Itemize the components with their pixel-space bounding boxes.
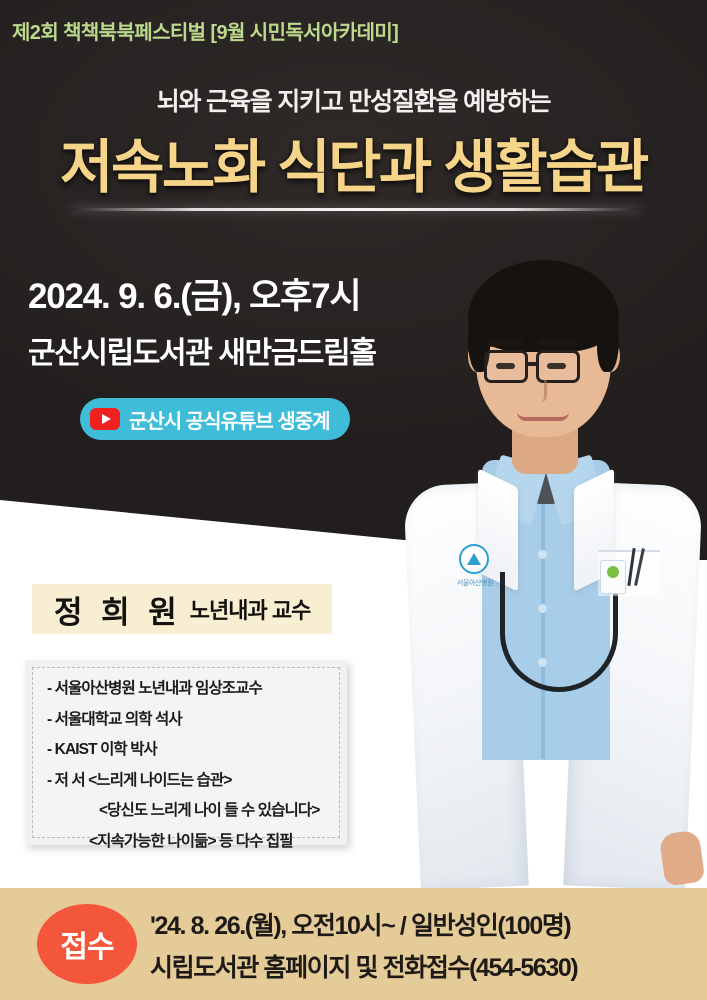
youtube-live-badge[interactable]: 군산시 공식유튜브 생중계	[80, 398, 350, 440]
id-badge-photo	[607, 566, 619, 578]
credential-item: - 저 서 <느리게 나이드는 습관>	[47, 773, 335, 789]
mouth	[517, 412, 569, 421]
registration-band: 접수 '24. 8. 26.(월), 오전10시~ / 일반성인(100명) 시…	[0, 888, 707, 1000]
credential-item: - 서울대학교 의학 석사	[47, 712, 335, 728]
event-venue-text: 군산시립도서관 새만금드림홀	[28, 328, 376, 372]
poster-subtitle: 뇌와 근육을 지키고 만성질환을 예방하는	[0, 82, 707, 118]
speaker-credentials-box: - 서울아산병원 노년내과 임상조교수 - 서울대학교 의학 석사 - KAIS…	[25, 660, 347, 845]
hospital-logo-icon	[459, 544, 489, 574]
glasses-lens-right	[536, 350, 580, 383]
glasses-bridge	[527, 362, 538, 366]
credential-item: - 서울아산병원 노년내과 임상조교수	[47, 681, 335, 697]
hospital-logo-text: 서울아산병원	[444, 578, 506, 588]
poster-main-title: 저속노화 식단과 생활습관	[0, 120, 707, 204]
credential-item: - KAIST 이학 박사	[47, 742, 335, 758]
credential-item: <지속가능한 나이듦> 등 다수 집필	[89, 834, 335, 850]
festival-eyebrow-text: 제2회 책책북북페스티벌 [9월 시민독서아카데미]	[12, 16, 398, 45]
credential-item: <당신도 느리게 나이 들 수 있습니다>	[99, 803, 335, 819]
title-divider	[70, 208, 640, 211]
speaker-name: 정 희 원	[54, 587, 182, 632]
registration-badge-label: 접수	[60, 922, 113, 966]
speaker-name-band: 정 희 원 노년내과 교수	[32, 584, 332, 634]
registration-info-line-2: 시립도서관 홈페이지 및 전화접수(454-5630)	[150, 948, 577, 984]
credentials-inner: - 서울아산병원 노년내과 임상조교수 - 서울대학교 의학 석사 - KAIS…	[32, 667, 340, 838]
registration-info-line-1: '24. 8. 26.(월), 오전10시~ / 일반성인(100명)	[150, 906, 570, 942]
speaker-role: 노년내과 교수	[190, 593, 311, 625]
shirt-button	[538, 550, 547, 559]
hand	[659, 829, 706, 886]
speaker-portrait: 서울아산병원	[404, 232, 707, 888]
event-poster: 제2회 책책북북페스티벌 [9월 시민독서아카데미] 뇌와 근육을 지키고 만성…	[0, 0, 707, 1000]
youtube-live-label: 군산시 공식유튜브 생중계	[129, 405, 330, 434]
glasses-lens-left	[484, 350, 528, 383]
youtube-icon	[90, 408, 120, 430]
registration-badge: 접수	[37, 904, 137, 984]
nose	[537, 380, 547, 402]
event-date-text: 2024. 9. 6.(금), 오후7시	[28, 268, 360, 319]
